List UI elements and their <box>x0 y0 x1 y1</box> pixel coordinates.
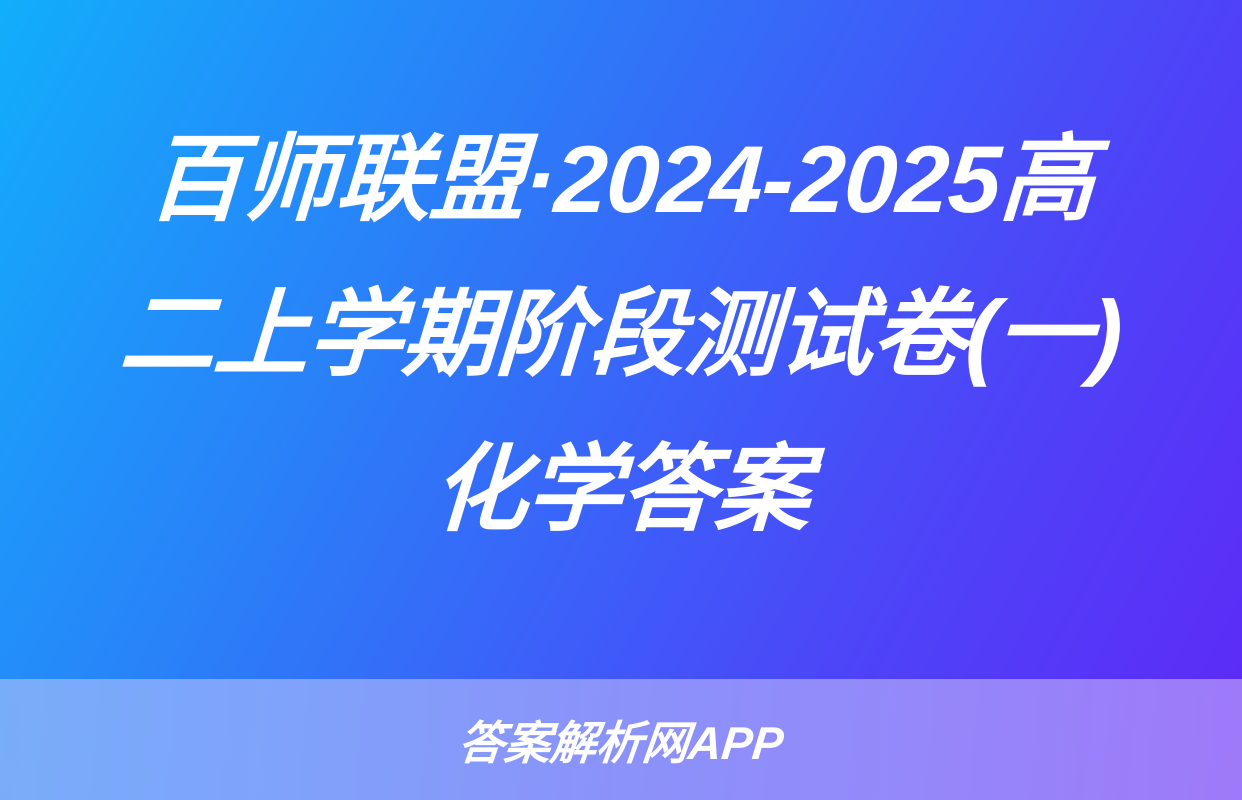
answer-poster: 百师联盟·2024-2025高 二上学期阶段测试卷(一) 化学答案 答案解析网A… <box>0 0 1242 800</box>
title-line-3: 化学答案 <box>429 413 813 568</box>
poster-title: 百师联盟·2024-2025高 二上学期阶段测试卷(一) 化学答案 <box>0 0 1242 679</box>
title-line-1: 百师联盟·2024-2025高 <box>144 103 1098 258</box>
title-line-2: 二上学期阶段测试卷(一) <box>116 258 1125 413</box>
app-brand-label: 答案解析网APP <box>455 707 787 773</box>
footer-branding: 答案解析网APP <box>0 679 1242 800</box>
